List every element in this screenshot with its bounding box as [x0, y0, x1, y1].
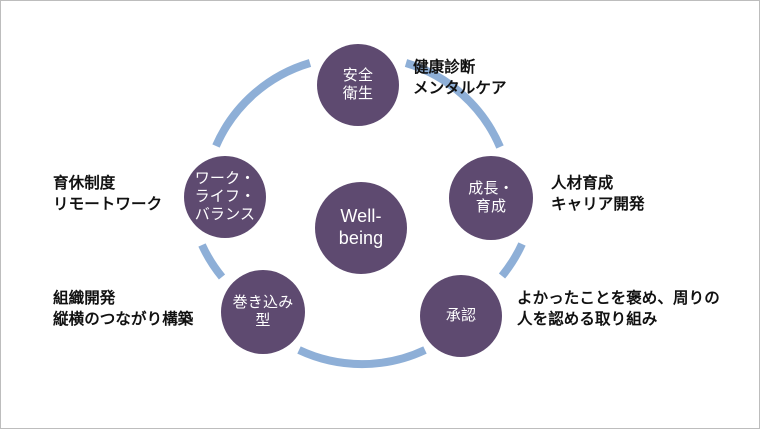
node-work-life-balance-label: ワーク・ ライフ・ バランス: [191, 170, 260, 225]
node-involvement-type-label: 巻き込み 型: [229, 294, 298, 331]
slide-canvas: Well-being 安全 衛生 成長・ 育成 承認 巻き込み 型 ワーク・ ラ…: [0, 0, 760, 429]
ring-arc-right: [502, 244, 522, 276]
ring-arc-left: [202, 245, 222, 277]
node-recognition-label: 承認: [442, 307, 480, 325]
ring-arc-top-left: [216, 63, 310, 146]
node-growth-development-label: 成長・ 育成: [464, 180, 518, 217]
callout-recognition: よかったことを褒め、周りの 人を認める取り組み: [517, 288, 720, 331]
callout-work-life-balance: 育休制度 リモートワーク: [53, 173, 162, 216]
center-node-well-being: Well-being: [315, 182, 407, 274]
callout-involvement-type: 組織開発 縦横のつながり構築: [53, 288, 193, 331]
center-node-label: Well-being: [315, 206, 407, 250]
ring-arc-bottom: [299, 350, 425, 364]
node-work-life-balance: ワーク・ ライフ・ バランス: [184, 156, 266, 238]
node-safety-health-label: 安全 衛生: [339, 67, 377, 104]
node-recognition: 承認: [420, 275, 502, 357]
node-involvement-type: 巻き込み 型: [221, 270, 305, 354]
callout-growth-development: 人材育成 キャリア開発: [551, 173, 645, 216]
node-safety-health: 安全 衛生: [317, 44, 399, 126]
callout-safety-health: 健康診断 メンタルケア: [413, 57, 507, 100]
node-growth-development: 成長・ 育成: [449, 156, 533, 240]
